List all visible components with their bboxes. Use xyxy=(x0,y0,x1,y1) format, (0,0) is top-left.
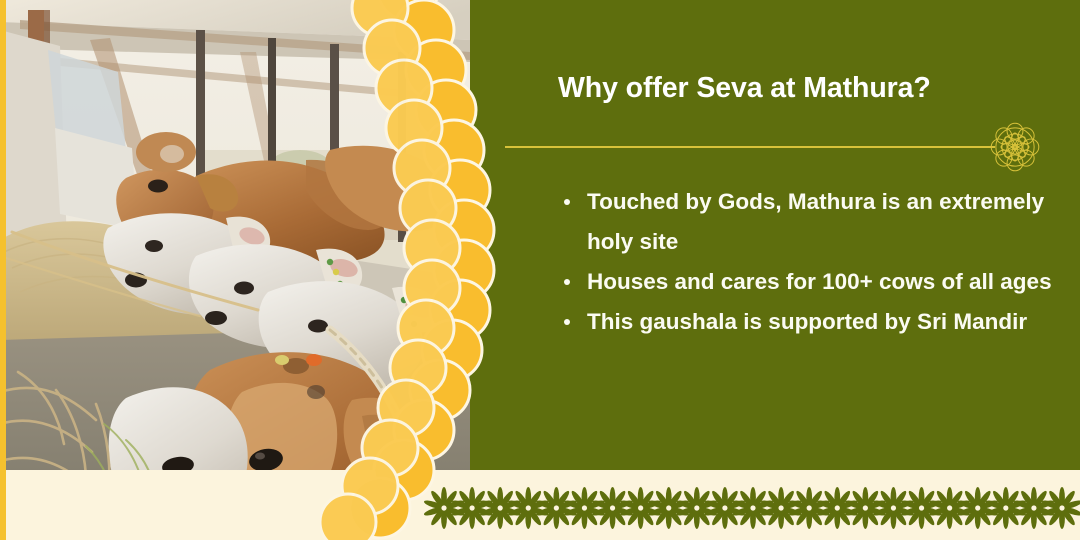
flower-motif xyxy=(873,487,915,529)
title-divider xyxy=(505,146,1080,148)
flower-motif xyxy=(760,487,802,529)
bottom-decorative-band xyxy=(0,470,1080,540)
gaushala-photo-illustration xyxy=(0,0,470,540)
flower-motif xyxy=(816,487,858,529)
flower-motif xyxy=(704,487,746,529)
flower-motif xyxy=(901,487,943,529)
gaushala-photo xyxy=(0,0,470,540)
flower-motif xyxy=(929,487,971,529)
mandala-rosette-icon xyxy=(987,119,1043,175)
flower-border-band xyxy=(0,470,1080,540)
content-panel: Why offer Seva at Mathura? xyxy=(505,0,1080,470)
flower-motif xyxy=(535,487,577,529)
benefits-list: Touched by Gods, Mathura is an extremely… xyxy=(560,182,1060,342)
flower-motif xyxy=(844,487,886,529)
list-item: This gaushala is supported by Sri Mandir xyxy=(560,302,1060,342)
slide-canvas: Why offer Seva at Mathura? xyxy=(0,0,1080,540)
flower-motif xyxy=(564,487,606,529)
flower-motif xyxy=(1013,487,1055,529)
flower-motif xyxy=(507,487,549,529)
flower-motif xyxy=(788,487,830,529)
list-item: Touched by Gods, Mathura is an extremely… xyxy=(560,182,1060,262)
flower-motif xyxy=(985,487,1027,529)
flower-motif xyxy=(620,487,662,529)
flower-motif xyxy=(732,487,774,529)
divider-line xyxy=(505,146,995,148)
flower-motif xyxy=(592,487,634,529)
list-item: Houses and cares for 100+ cows of all ag… xyxy=(560,262,1060,302)
flower-motif xyxy=(957,487,999,529)
page-title: Why offer Seva at Mathura? xyxy=(558,72,1058,105)
flower-motif xyxy=(423,487,465,529)
flower-motif xyxy=(648,487,690,529)
flower-motif xyxy=(451,487,493,529)
flower-motif xyxy=(479,487,521,529)
flower-motif xyxy=(676,487,718,529)
flower-motif xyxy=(1041,487,1080,529)
left-edge-gold-strip xyxy=(0,0,6,540)
